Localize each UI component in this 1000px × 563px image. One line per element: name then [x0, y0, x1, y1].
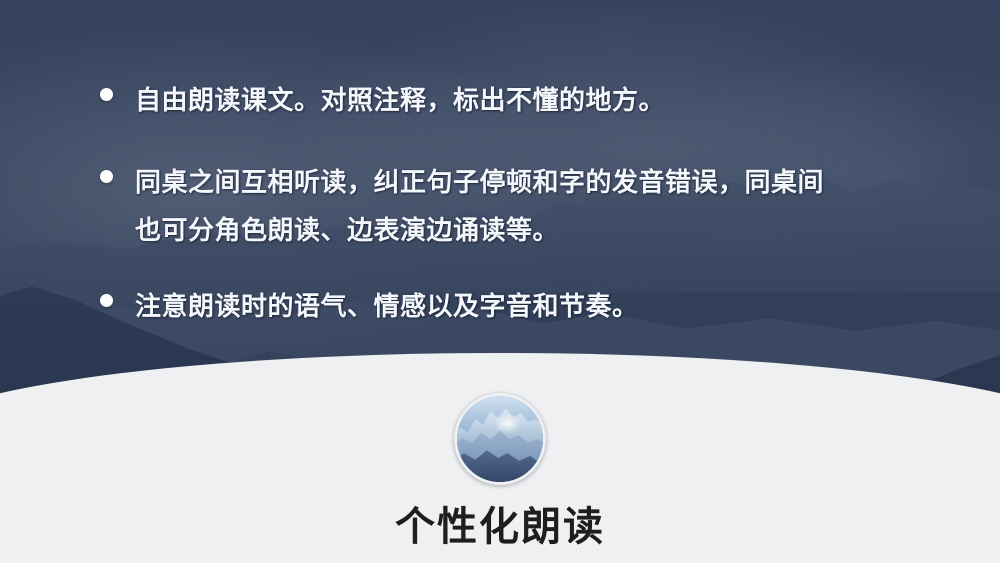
bullet-point-icon [100, 88, 113, 101]
list-item: 注意朗读时的语气、情感以及字音和节奏。 [100, 282, 639, 330]
bullet-text: 同桌之间互相听读，纠正句子停顿和字的发音错误，同桌间 也可分角色朗读、边表演边诵… [135, 158, 824, 254]
page-title: 个性化朗读 [0, 494, 1000, 552]
bullet-text: 注意朗读时的语气、情感以及字音和节奏。 [135, 282, 639, 330]
bullet-point-icon [100, 170, 113, 183]
list-item: 自由朗读课文。对照注释，标出不懂的地方。 [100, 76, 665, 124]
emblem-highlight [493, 413, 522, 434]
mountain-circle-emblem-icon [454, 393, 546, 485]
presentation-slide: 自由朗读课文。对照注释，标出不懂的地方。 同桌之间互相听读，纠正句子停顿和字的发… [0, 0, 1000, 563]
list-item: 同桌之间互相听读，纠正句子停顿和字的发音错误，同桌间 也可分角色朗读、边表演边诵… [100, 158, 824, 254]
bullet-point-icon [100, 294, 113, 307]
bullet-text: 自由朗读课文。对照注释，标出不懂的地方。 [135, 76, 665, 124]
